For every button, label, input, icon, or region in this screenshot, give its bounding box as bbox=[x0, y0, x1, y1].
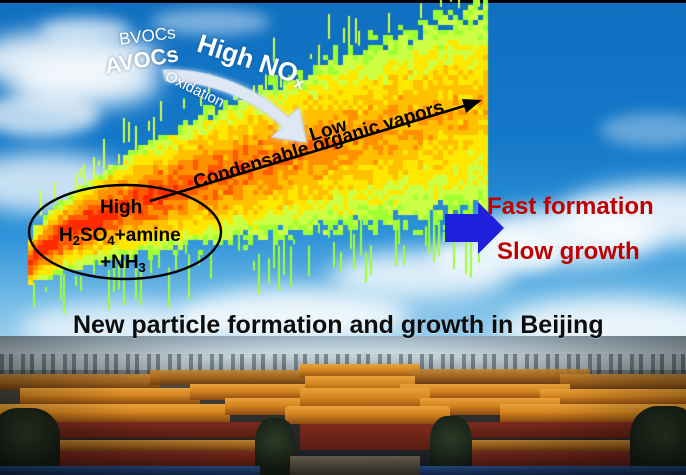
h2so4-sub2: 2 bbox=[73, 233, 80, 248]
label-ellipse-h2so4: H2SO4+amine bbox=[59, 225, 181, 247]
nh3-sub: 3 bbox=[139, 260, 146, 275]
h2so4-h: H bbox=[59, 225, 73, 246]
figure-title: New particle formation and growth in Bei… bbox=[73, 311, 604, 340]
figure-canvas: BVOCs AVOCs Oxidation High NOx Low Conde… bbox=[0, 0, 686, 475]
h2so4-amine: +amine bbox=[115, 225, 181, 246]
h2so4-sub4: 4 bbox=[107, 233, 114, 248]
label-ellipse-high: High bbox=[100, 197, 142, 219]
label-slow-growth: Slow growth bbox=[497, 238, 640, 266]
label-ellipse-nh3: +NH3 bbox=[100, 252, 146, 274]
h2so4-so: SO bbox=[80, 225, 107, 246]
nh3-text: +NH bbox=[100, 252, 139, 273]
label-fast-formation: Fast formation bbox=[487, 193, 654, 221]
